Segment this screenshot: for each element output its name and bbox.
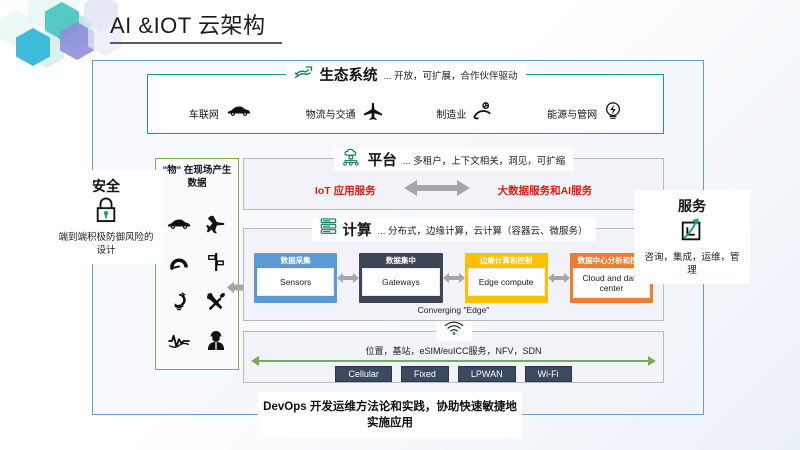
compute-header: 计算 ... 分布式，边缘计算，云计算（容器云、微服务） — [311, 218, 595, 241]
devops-banner: DevOps 开发运维方法论和实践，协助快速敏捷地实施应用 — [258, 392, 522, 438]
compute-card-body: Sensors — [257, 268, 334, 296]
ecosystem-items: 车联网 物流与交通 制造业 — [148, 101, 663, 125]
things-title: "物" 在现场产生数据 — [160, 165, 234, 191]
double-arrow-icon — [443, 271, 465, 285]
ecosystem-item-energy[interactable]: 能源与管网 — [547, 101, 622, 125]
service-panel: 服务 咨询，集成，运维，管理 — [634, 190, 750, 284]
heartbeat-icon — [167, 333, 191, 354]
compute-card-header: 数据集中 — [386, 256, 416, 265]
connectivity-chips: Cellular Fixed LPWAN Wi-Fi — [244, 366, 663, 382]
compute-card-body: Gateways — [362, 268, 439, 296]
compute-card-header: 边缘计算和控制 — [480, 256, 533, 265]
connectivity-flow-line — [258, 360, 649, 362]
ecosystem-item-label: 物流与交通 — [306, 106, 356, 121]
ecosystem-subtitle: ... 开放，可扩展，合作伙伴驱动 — [383, 68, 517, 82]
platform-services-row: IoT 应用服务 大数据服务和AI服务 — [244, 179, 663, 202]
airplane-icon — [205, 214, 227, 239]
energy-bulb-icon — [604, 101, 622, 125]
compute-card-edge[interactable]: 边缘计算和控制 Edge compute — [465, 253, 548, 303]
connectivity-section: 位置，基站，eSIM/euICC服务，NFV，SDN Cellular Fixe… — [243, 331, 664, 383]
compute-card-header: 数据采集 — [281, 256, 311, 265]
ecosystem-section: 生态系统 ... 开放，可扩展，合作伙伴驱动 车联网 物流与交通 — [147, 74, 664, 134]
things-icon-grid — [156, 207, 238, 363]
bulb-refresh-icon — [169, 291, 189, 316]
double-arrow-icon — [337, 271, 359, 285]
compute-stack-icon — [319, 218, 336, 241]
compute-title: 计算 — [342, 219, 371, 240]
ecosystem-handshake-icon — [293, 64, 313, 85]
tools-icon — [205, 291, 227, 317]
compute-section: 计算 ... 分布式，边缘计算，云计算（容器云、微服务） 数据采集 Sensor… — [243, 228, 664, 321]
ecosystem-item-logistics[interactable]: 物流与交通 — [306, 102, 383, 125]
worker-icon — [207, 330, 225, 356]
security-title: 安全 — [58, 176, 154, 196]
compute-footer-label: Converging "Edge" — [244, 305, 663, 315]
ecosystem-header: 生态系统 ... 开放，可扩展，合作伙伴驱动 — [285, 64, 525, 85]
airplane-icon — [363, 102, 383, 125]
lock-icon — [94, 197, 118, 228]
ecosystem-item-manufacturing[interactable]: 制造业 — [436, 102, 493, 125]
title-underline — [110, 42, 282, 44]
platform-left-label: IoT 应用服务 — [315, 183, 376, 198]
security-panel: 安全 端到端积极防御风险的设计 — [50, 170, 162, 264]
compute-card-gateways[interactable]: 数据集中 Gateways — [359, 253, 442, 303]
double-arrow-icon — [404, 179, 470, 202]
service-description: 咨询，集成，运维，管理 — [642, 252, 742, 278]
manufacturing-hand-icon — [473, 102, 493, 125]
platform-section: 平台 ... 多租户，上下文相关，洞见，可扩缩 IoT 应用服务 大数据服务和A… — [243, 158, 664, 210]
service-growth-icon — [679, 217, 705, 248]
connectivity-chip-wifi[interactable]: Wi-Fi — [525, 366, 572, 382]
page-title: AI &IOT 云架构 — [110, 8, 265, 40]
double-arrow-icon — [548, 271, 570, 285]
ecosystem-title: 生态系统 — [319, 64, 377, 85]
signpost-icon — [207, 252, 225, 277]
platform-header: 平台 ... 多租户，上下文相关，洞见，可扩缩 — [334, 148, 574, 171]
connectivity-chip-lpwan[interactable]: LPWAN — [458, 366, 516, 382]
car-icon — [166, 217, 192, 235]
ecosystem-item-label: 制造业 — [436, 106, 466, 121]
slide-canvas: AI &IOT 云架构 生态系统 ... 开放，可扩展，合作伙伴驱动 车联网 — [0, 0, 800, 450]
platform-subtitle: ... 多租户，上下文相关，洞见，可扩缩 — [403, 153, 566, 167]
platform-cloud-network-icon — [342, 148, 362, 171]
car-icon — [226, 104, 252, 122]
ecosystem-item-label: 车联网 — [189, 106, 219, 121]
gauge-icon — [168, 254, 190, 275]
compute-card-body: Edge compute — [468, 268, 545, 296]
things-column: "物" 在现场产生数据 — [155, 158, 239, 370]
connectivity-chip-cellular[interactable]: Cellular — [335, 366, 392, 382]
compute-cards-row: 数据采集 Sensors 数据集中 Gateways 边缘计算和控制 Edge … — [254, 253, 653, 303]
connectivity-header — [436, 321, 472, 341]
compute-card-sensors[interactable]: 数据采集 Sensors — [254, 253, 337, 303]
compute-subtitle: ... 分布式，边缘计算，云计算（容器云、微服务） — [377, 223, 587, 237]
platform-title: 平台 — [368, 149, 397, 170]
service-title: 服务 — [642, 196, 742, 216]
connectivity-tags: 位置，基站，eSIM/euICC服务，NFV，SDN — [244, 344, 663, 357]
connectivity-chip-fixed[interactable]: Fixed — [401, 366, 449, 382]
ecosystem-item-label: 能源与管网 — [547, 106, 597, 121]
ecosystem-item-connected-vehicles[interactable]: 车联网 — [189, 104, 252, 122]
platform-right-label: 大数据服务和AI服务 — [498, 183, 593, 198]
security-description: 端到端积极防御风险的设计 — [58, 232, 154, 258]
wifi-icon — [444, 321, 464, 341]
